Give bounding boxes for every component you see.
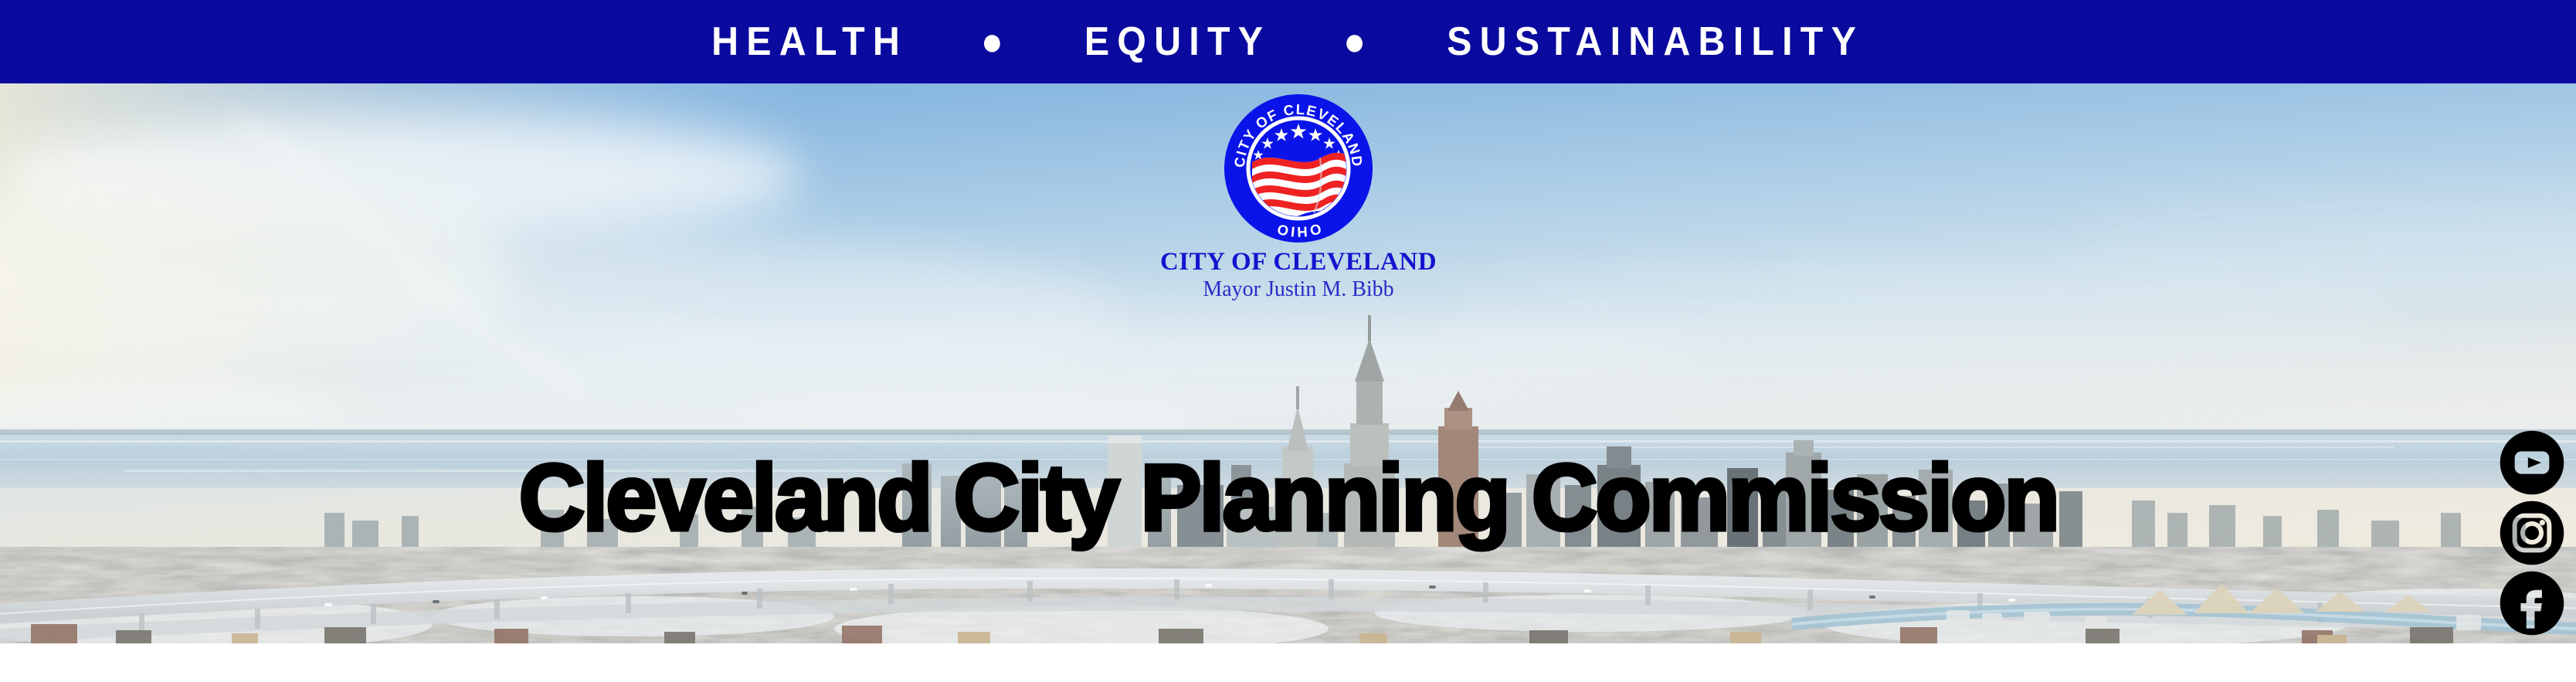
social-links[interactable] [2496, 429, 2568, 636]
page-header-banner: HEALTH ● EQUITY ● SUSTAINABILITY CITY OF… [0, 0, 2576, 682]
city-of-cleveland-seal-icon: CITY OF CLEVELAND OHIO [1221, 91, 1376, 246]
tagline-banner: HEALTH ● EQUITY ● SUSTAINABILITY [0, 0, 2576, 83]
instagram-link[interactable] [2499, 500, 2565, 566]
youtube-link[interactable] [2499, 429, 2565, 496]
city-name: CITY OF CLEVELAND [1140, 249, 1457, 276]
youtube-icon [2499, 429, 2565, 496]
facebook-link[interactable] [2499, 570, 2565, 636]
facebook-icon [2499, 570, 2565, 636]
city-brand-block[interactable]: CITY OF CLEVELAND OHIO [1140, 91, 1457, 301]
tagline-text: HEALTH ● EQUITY ● SUSTAINABILITY [712, 22, 1865, 62]
mayor-name: Mayor Justin M. Bibb [1140, 278, 1457, 302]
instagram-icon [2499, 500, 2565, 566]
